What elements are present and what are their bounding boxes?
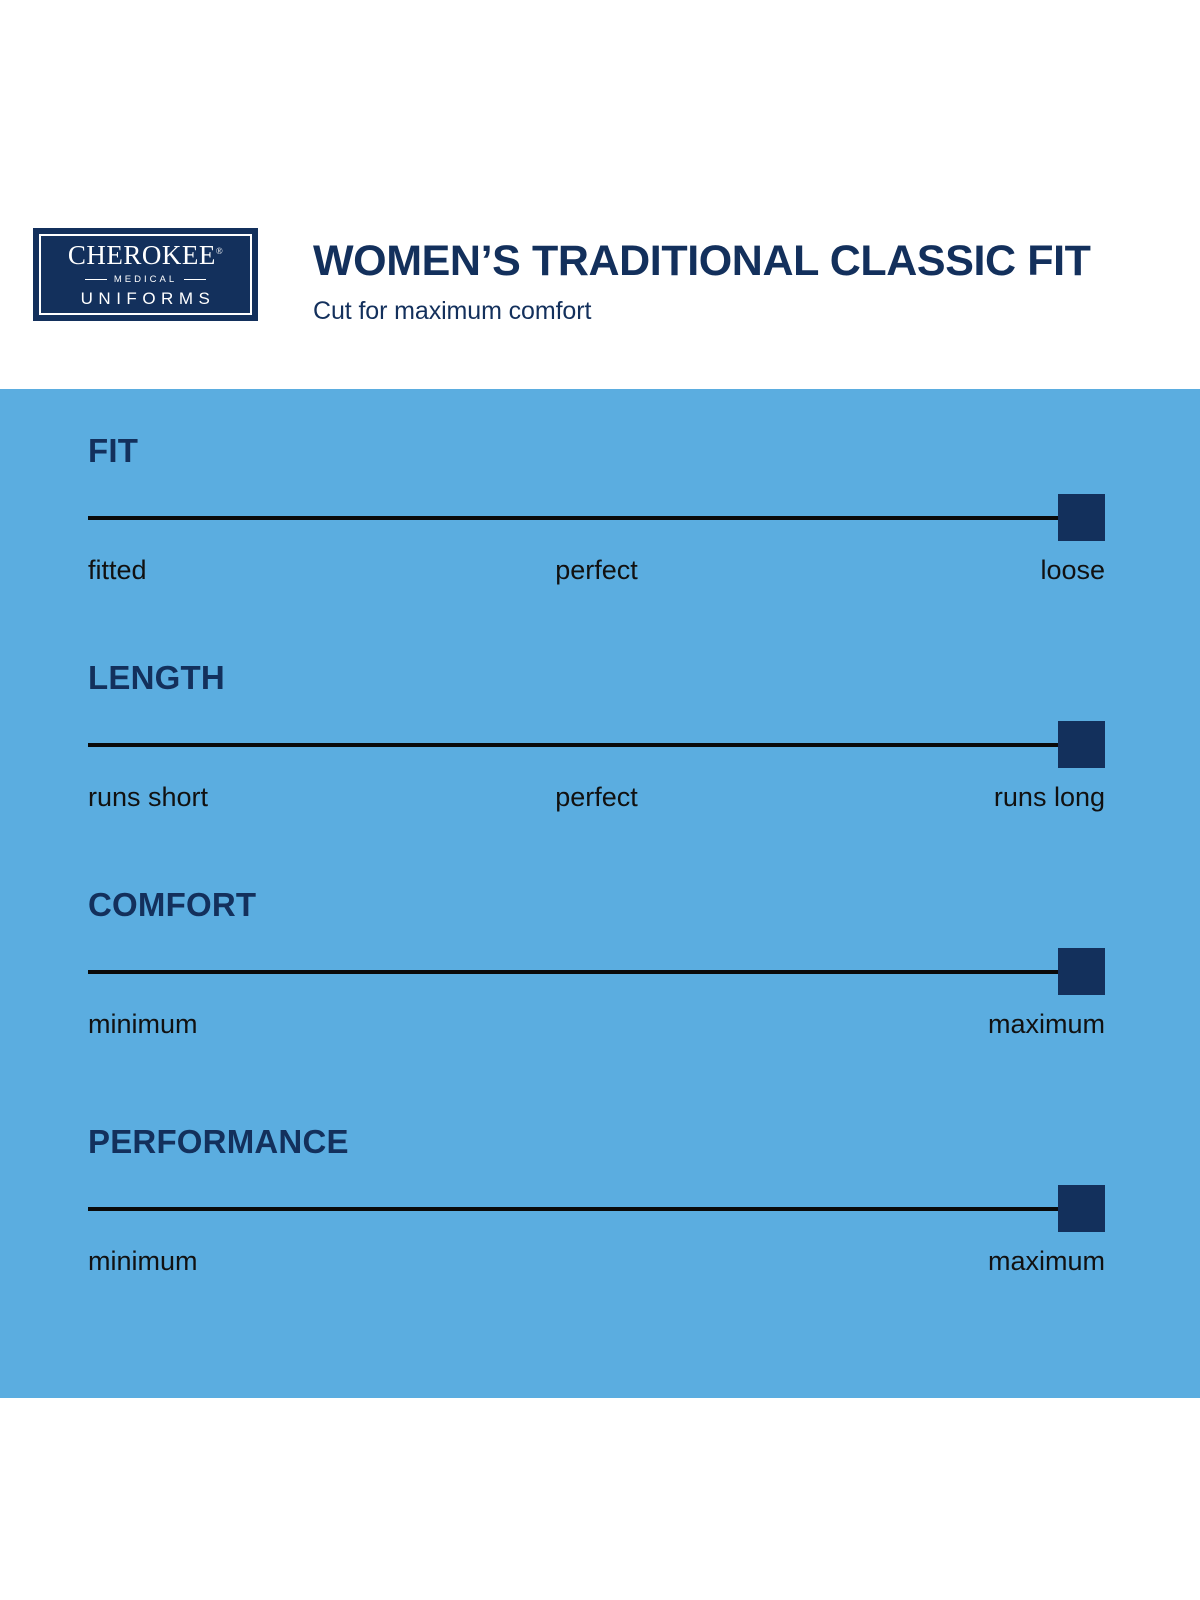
logo-rule-left-icon [85,279,107,281]
scale-label-middle-fit: perfect [555,554,638,586]
footer-whitespace [0,1398,1200,1600]
scale-labels-performance: minimum maximum [88,1245,1105,1279]
scale-marker-length[interactable] [1058,721,1105,768]
metric-fit: FIT fitted perfect loose [88,434,1105,588]
scale-label-start-length: runs short [88,781,208,813]
scale-labels-length: runs short perfect runs long [88,781,1105,815]
metric-title-fit: FIT [88,434,1105,467]
logo-brand-text: CHEROKEE [68,240,216,270]
scale-marker-comfort[interactable] [1058,948,1105,995]
scale-line-performance [88,1207,1063,1211]
fit-scales-panel: FIT fitted perfect loose LENGTH runs sho… [0,389,1200,1398]
metric-length: LENGTH runs short perfect runs long [88,661,1105,815]
scale-label-start-performance: minimum [88,1245,198,1277]
metric-comfort: COMFORT minimum maximum [88,888,1105,1042]
scale-track-fit[interactable] [88,494,1105,541]
logo-uniforms-text: UNIFORMS [76,290,216,307]
scale-label-start-comfort: minimum [88,1008,198,1040]
logo-medical-row: MEDICAL [85,275,206,285]
scale-label-end-fit: loose [1040,554,1105,586]
scale-label-end-performance: maximum [988,1245,1105,1277]
logo-medical-text: MEDICAL [114,275,177,285]
scale-line-length [88,743,1063,747]
logo-rule-right-icon [184,279,206,281]
page-title: WOMEN’S TRADITIONAL CLASSIC FIT [313,238,1133,284]
registered-trademark-icon: ® [216,246,223,256]
metric-performance: PERFORMANCE minimum maximum [88,1125,1105,1279]
scale-label-start-fit: fitted [88,554,147,586]
scale-marker-performance[interactable] [1058,1185,1105,1232]
scale-line-comfort [88,970,1063,974]
metric-title-length: LENGTH [88,661,1105,694]
cherokee-medical-uniforms-logo: CHEROKEE® MEDICAL UNIFORMS [33,228,258,321]
scale-line-fit [88,516,1063,520]
metric-title-comfort: COMFORT [88,888,1105,921]
logo-inner-frame: CHEROKEE® MEDICAL UNIFORMS [39,234,252,315]
page-subtitle: Cut for maximum comfort [313,298,1133,326]
scale-marker-fit[interactable] [1058,494,1105,541]
scale-labels-fit: fitted perfect loose [88,554,1105,588]
fit-guide-page: CHEROKEE® MEDICAL UNIFORMS WOMEN’S TRADI… [0,0,1200,1600]
scale-track-comfort[interactable] [88,948,1105,995]
header-text-block: WOMEN’S TRADITIONAL CLASSIC FIT Cut for … [313,238,1133,326]
scale-label-middle-length: perfect [555,781,638,813]
scale-label-end-comfort: maximum [988,1008,1105,1040]
header: CHEROKEE® MEDICAL UNIFORMS WOMEN’S TRADI… [0,0,1200,389]
logo-brand-name: CHEROKEE® [68,242,223,269]
metric-title-performance: PERFORMANCE [88,1125,1105,1158]
scale-track-length[interactable] [88,721,1105,768]
scale-track-performance[interactable] [88,1185,1105,1232]
scale-labels-comfort: minimum maximum [88,1008,1105,1042]
scale-label-end-length: runs long [994,781,1105,813]
